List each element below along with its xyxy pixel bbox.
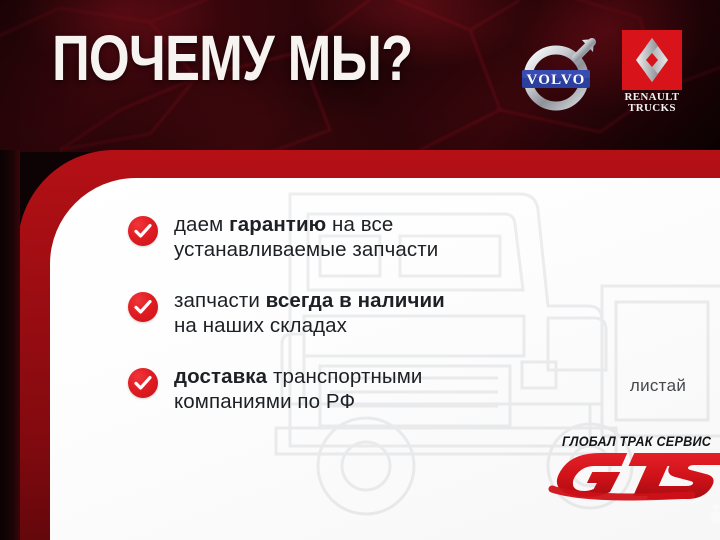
- header-banner: ПОЧЕМУ МЫ?: [0, 0, 720, 152]
- avito-dots-icon: [711, 503, 720, 525]
- list-item: доставка транспортными компаниями по РФ: [128, 364, 598, 414]
- gts-wordmark: [544, 445, 720, 506]
- renault-wordmark: RENAULT TRUCKS: [625, 92, 680, 114]
- benefit-strong: гарантию: [229, 213, 326, 236]
- benefit-strong: всегда в наличии: [266, 289, 445, 312]
- content-panel: даем гарантию на все устанавливаемые зап…: [50, 178, 720, 540]
- check-icon: [128, 368, 158, 398]
- benefit-pre: запчасти: [174, 289, 266, 312]
- benefit-text: запчасти всегда в наличии на наших склад…: [174, 288, 445, 338]
- list-item: запчасти всегда в наличии на наших склад…: [128, 288, 598, 338]
- check-icon: [128, 292, 158, 322]
- benefit-strong: доставка: [174, 365, 267, 388]
- gts-logo: ГЛОБАЛ ТРАК СЕРВИС: [538, 434, 720, 502]
- renault-trucks-logo: RENAULT TRUCKS: [616, 30, 688, 116]
- benefit-line2: на наших складах: [174, 314, 347, 337]
- benefit-line2: компаниями по РФ: [174, 390, 355, 413]
- benefits-list: даем гарантию на все устанавливаемые зап…: [128, 212, 598, 414]
- benefit-post: на все: [326, 213, 393, 236]
- list-item: даем гарантию на все устанавливаемые зап…: [128, 212, 598, 262]
- promo-slide: ПОЧЕМУ МЫ?: [0, 0, 720, 540]
- swipe-label: листай: [590, 376, 720, 395]
- check-icon: [128, 216, 158, 246]
- benefit-post: транспортными: [267, 365, 422, 388]
- renault-diamond-icon: [631, 36, 673, 84]
- avito-watermark: Avito: [711, 499, 720, 528]
- left-dark-edge: [0, 150, 20, 540]
- page-title: ПОЧЕМУ МЫ?: [52, 26, 412, 90]
- benefit-text: доставка транспортными компаниями по РФ: [174, 364, 422, 414]
- benefit-pre: даем: [174, 213, 229, 236]
- benefit-text: даем гарантию на все устанавливаемые зап…: [174, 212, 438, 262]
- volvo-logo: VOLVO: [520, 32, 598, 114]
- brand-logos: VOLVO: [520, 30, 688, 116]
- swipe-arrow-icon: [590, 396, 720, 408]
- swipe-hint: листай: [590, 376, 720, 408]
- volvo-wordmark: VOLVO: [526, 72, 585, 88]
- renault-diamond-box: [622, 30, 682, 90]
- benefit-line2: устанавливаемые запчасти: [174, 238, 438, 261]
